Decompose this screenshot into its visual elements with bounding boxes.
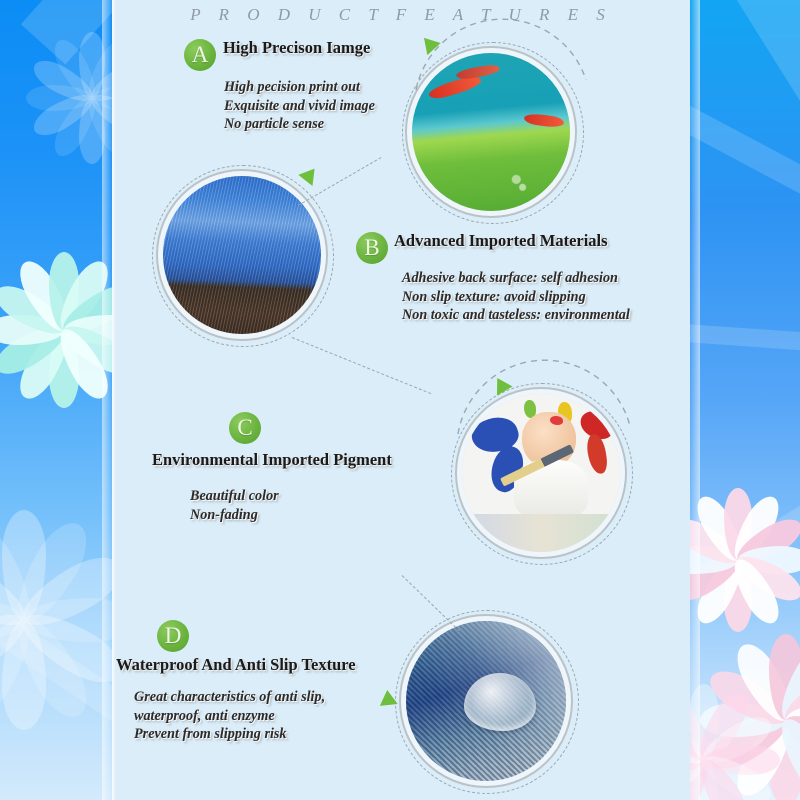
photo-image-b xyxy=(163,176,321,334)
feature-body-b: Adhesive back surface: self adhesion Non… xyxy=(402,269,630,325)
painted-floor xyxy=(462,514,620,552)
feature-body-a: High pecision print out Exquisite and vi… xyxy=(224,78,375,134)
water-droplet xyxy=(464,673,536,731)
right-decorative-border xyxy=(690,0,800,800)
border-facet xyxy=(690,320,800,359)
page-title: P R O D U C T F E A T U R E S xyxy=(112,5,690,25)
feature-heading-d: Waterproof And Anti Slip Texture xyxy=(116,655,356,675)
photo-blue-fabric-roll xyxy=(163,176,321,334)
badge-letter-c: C xyxy=(229,412,261,444)
paint-splatter xyxy=(585,433,608,475)
photo-image-d xyxy=(406,621,566,781)
content-panel: P R O D U C T F E A T U R E S A High Pre… xyxy=(112,0,690,800)
badge-letter-b: B xyxy=(356,232,388,264)
feature-heading-c: Environmental Imported Pigment xyxy=(152,450,392,470)
badge-letter-a: A xyxy=(184,39,216,71)
arc-a xyxy=(408,36,598,96)
badge-letter-d: D xyxy=(157,620,189,652)
left-decorative-border xyxy=(0,0,112,800)
connector-b-to-c xyxy=(292,337,431,394)
flow-arrow-d-icon xyxy=(378,689,397,706)
feature-body-d: Great characteristics of anti slip, wate… xyxy=(134,688,325,744)
feature-heading-b: Advanced Imported Materials xyxy=(394,231,608,251)
photo-water-droplet xyxy=(406,621,566,781)
border-facet xyxy=(690,0,800,111)
arc-c xyxy=(448,378,638,438)
infographic-canvas: P R O D U C T F E A T U R E S A High Pre… xyxy=(0,0,800,800)
koi-fish xyxy=(523,112,564,128)
border-facet xyxy=(690,86,800,240)
feature-body-c: Beautiful color Non-fading xyxy=(190,487,279,524)
feature-heading-a: High Precison Iamge xyxy=(223,38,370,58)
